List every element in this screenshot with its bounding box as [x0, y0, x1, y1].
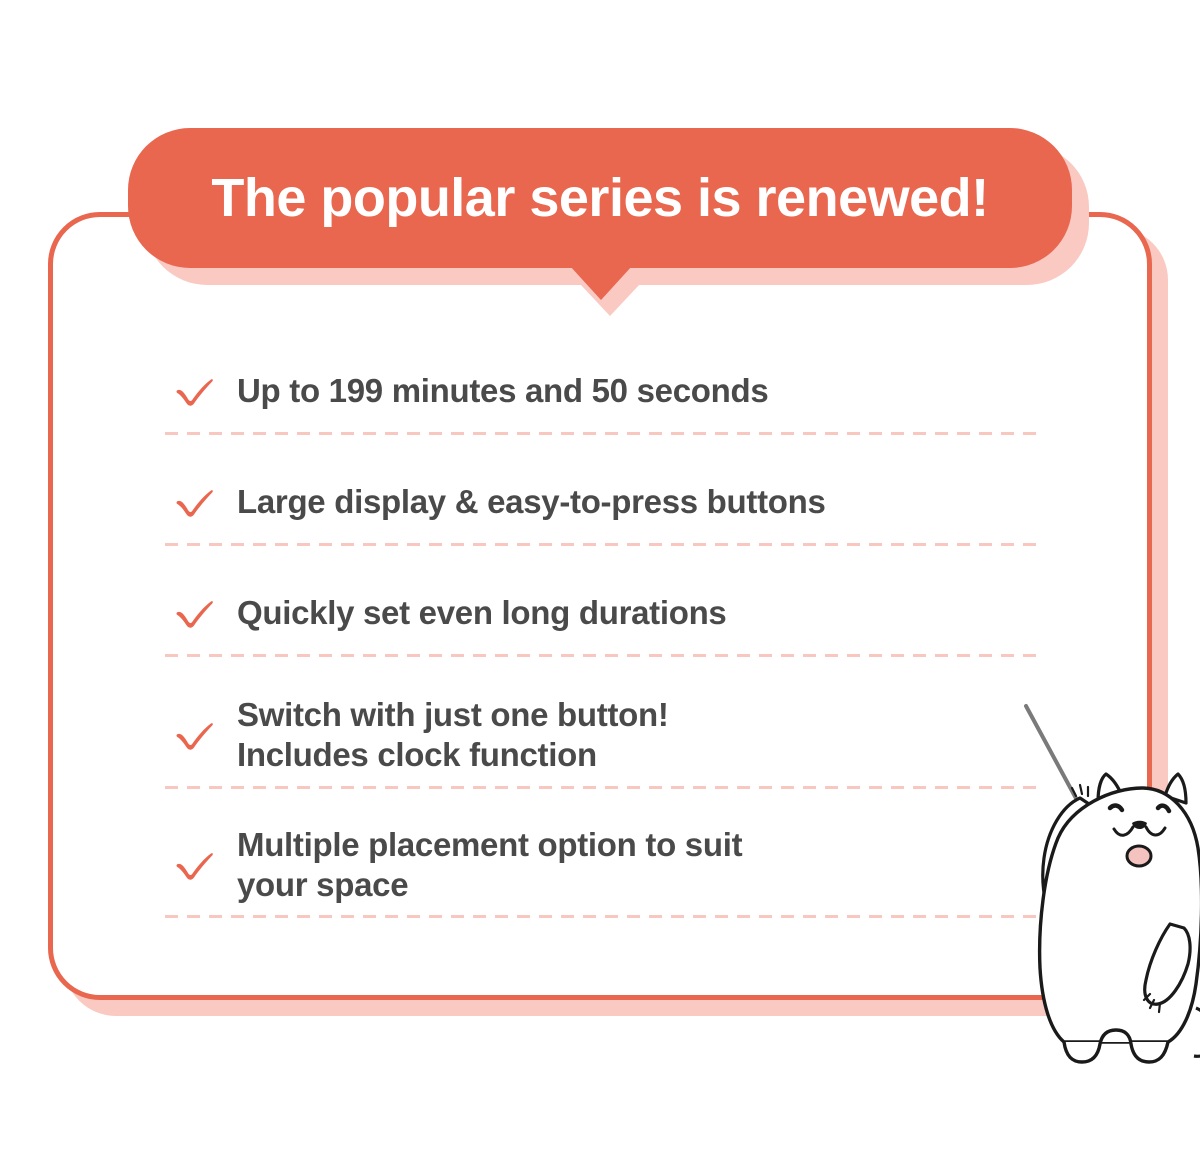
feature-text: Up to 199 minutes and 50 seconds — [237, 371, 768, 411]
feature-text: Multiple placement option to suit your s… — [237, 825, 742, 906]
spacer — [165, 435, 1040, 471]
feature-divider — [165, 915, 1040, 918]
feature-list: Up to 199 minutes and 50 seconds Large d… — [165, 360, 1040, 918]
cat-tail — [1194, 1008, 1200, 1056]
check-icon — [175, 597, 215, 629]
check-cell — [165, 486, 237, 518]
check-cell — [165, 849, 237, 881]
pointer-stick-icon — [1026, 706, 1078, 802]
check-cell — [165, 719, 237, 751]
check-icon — [175, 849, 215, 881]
spacer — [165, 657, 1040, 695]
cat-paw-tufts — [1072, 785, 1088, 796]
page-title: The popular series is renewed! — [211, 171, 988, 225]
list-item: Large display & easy-to-press buttons — [165, 471, 1040, 543]
list-item: Switch with just one button! Includes cl… — [165, 695, 1040, 786]
feature-text: Quickly set even long durations — [237, 593, 727, 633]
speech-bubble-tail-icon — [570, 266, 632, 300]
title-bubble: The popular series is renewed! — [128, 128, 1072, 268]
check-cell — [165, 375, 237, 407]
feature-text: Switch with just one button! Includes cl… — [237, 695, 669, 776]
check-icon — [175, 375, 215, 407]
spacer — [165, 789, 1040, 825]
cat-body — [1040, 788, 1200, 1042]
spacer — [165, 546, 1040, 582]
check-cell — [165, 597, 237, 629]
cat-tongue — [1127, 846, 1151, 866]
check-icon — [175, 719, 215, 751]
cat-mascot-icon — [1002, 690, 1200, 1070]
list-item: Multiple placement option to suit your s… — [165, 825, 1040, 916]
list-item: Quickly set even long durations — [165, 582, 1040, 654]
list-item: Up to 199 minutes and 50 seconds — [165, 360, 1040, 432]
check-icon — [175, 486, 215, 518]
feature-text: Large display & easy-to-press buttons — [237, 482, 826, 522]
